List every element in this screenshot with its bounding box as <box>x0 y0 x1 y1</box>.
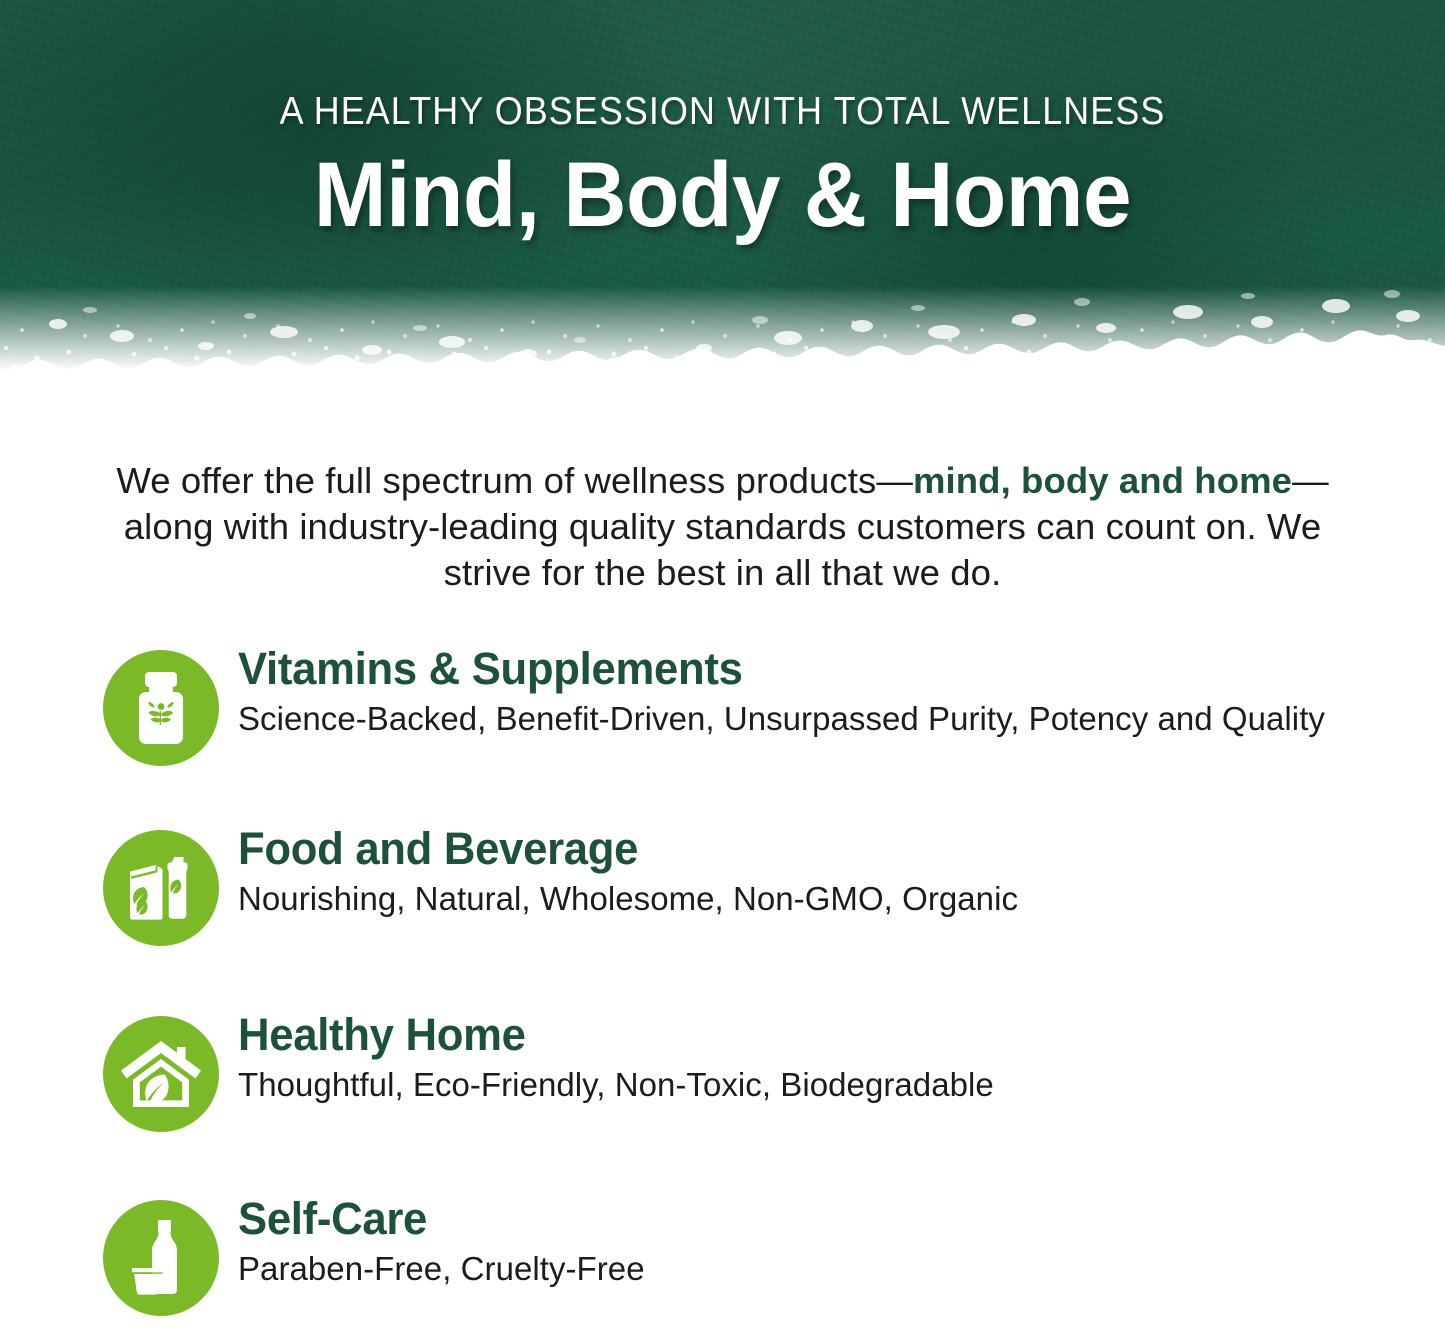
feature-text-block: Healthy Home Thoughtful, Eco-Friendly, N… <box>219 1010 1445 1106</box>
feature-item-food-and-beverage: Food and Beverage Nourishing, Natural, W… <box>103 824 1445 946</box>
feature-description: Science-Backed, Benefit-Driven, Unsurpas… <box>238 698 1445 740</box>
feature-description: Nourishing, Natural, Wholesome, Non-GMO,… <box>238 878 1445 920</box>
hero-text-block: A HEALTHY OBSESSION WITH TOTAL WELLNESS … <box>0 0 1445 245</box>
feature-text-block: Food and Beverage Nourishing, Natural, W… <box>219 824 1445 920</box>
feature-item-healthy-home: Healthy Home Thoughtful, Eco-Friendly, N… <box>103 1010 1445 1132</box>
feature-text-block: Self-Care Paraben-Free, Cruelty-Free <box>219 1194 1445 1290</box>
feature-title: Healthy Home <box>238 1010 1409 1060</box>
feature-item-vitamins-supplements: Vitamins & Supplements Science-Backed, B… <box>103 644 1445 766</box>
hero-eyebrow: A HEALTHY OBSESSION WITH TOTAL WELLNESS <box>58 92 1387 131</box>
feature-description: Thoughtful, Eco-Friendly, Non-Toxic, Bio… <box>238 1064 1445 1106</box>
intro-text-part1: We offer the full spectrum of wellness p… <box>116 460 913 501</box>
hero-banner: A HEALTHY OBSESSION WITH TOTAL WELLNESS … <box>0 0 1445 400</box>
intro-highlight: mind, body and home <box>913 460 1292 501</box>
marketing-page: A HEALTHY OBSESSION WITH TOTAL WELLNESS … <box>0 0 1445 1338</box>
feature-text-block: Vitamins & Supplements Science-Backed, B… <box>219 644 1445 740</box>
feature-title: Vitamins & Supplements <box>238 644 1409 694</box>
supplement-bottle-icon <box>103 650 219 766</box>
main-content: We offer the full spectrum of wellness p… <box>0 400 1445 1316</box>
feature-item-self-care: Self-Care Paraben-Free, Cruelty-Free <box>103 1194 1445 1316</box>
lotion-bottle-and-jar-icon <box>103 1200 219 1316</box>
feature-description: Paraben-Free, Cruelty-Free <box>238 1248 1445 1290</box>
feature-title: Food and Beverage <box>238 824 1409 874</box>
food-pouch-and-bottle-icon <box>103 830 219 946</box>
feature-list: Vitamins & Supplements Science-Backed, B… <box>0 644 1445 1316</box>
hero-title: Mind, Body & Home <box>36 147 1409 245</box>
house-with-leaf-icon <box>103 1016 219 1132</box>
feature-title: Self-Care <box>238 1194 1409 1244</box>
intro-paragraph: We offer the full spectrum of wellness p… <box>108 400 1338 596</box>
